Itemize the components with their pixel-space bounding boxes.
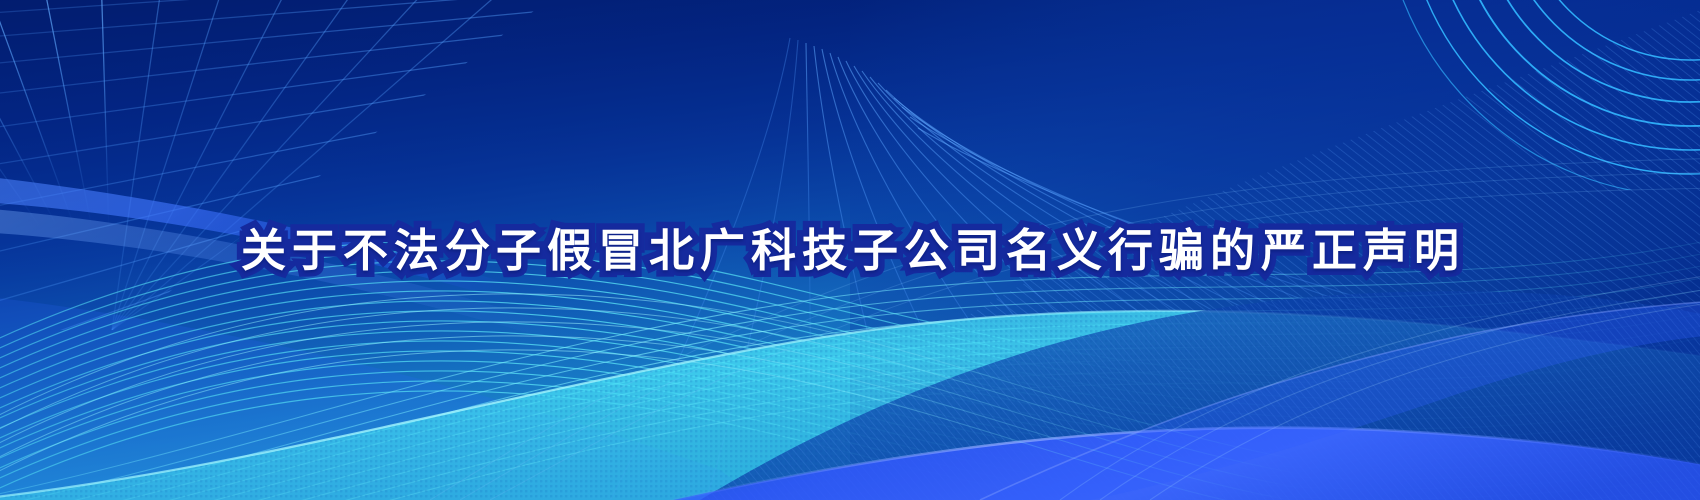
wave-filament-decoration <box>0 0 1700 500</box>
promo-banner: 关于不法分子假冒北广科技子公司名义行骗的严正声明 <box>0 0 1700 500</box>
